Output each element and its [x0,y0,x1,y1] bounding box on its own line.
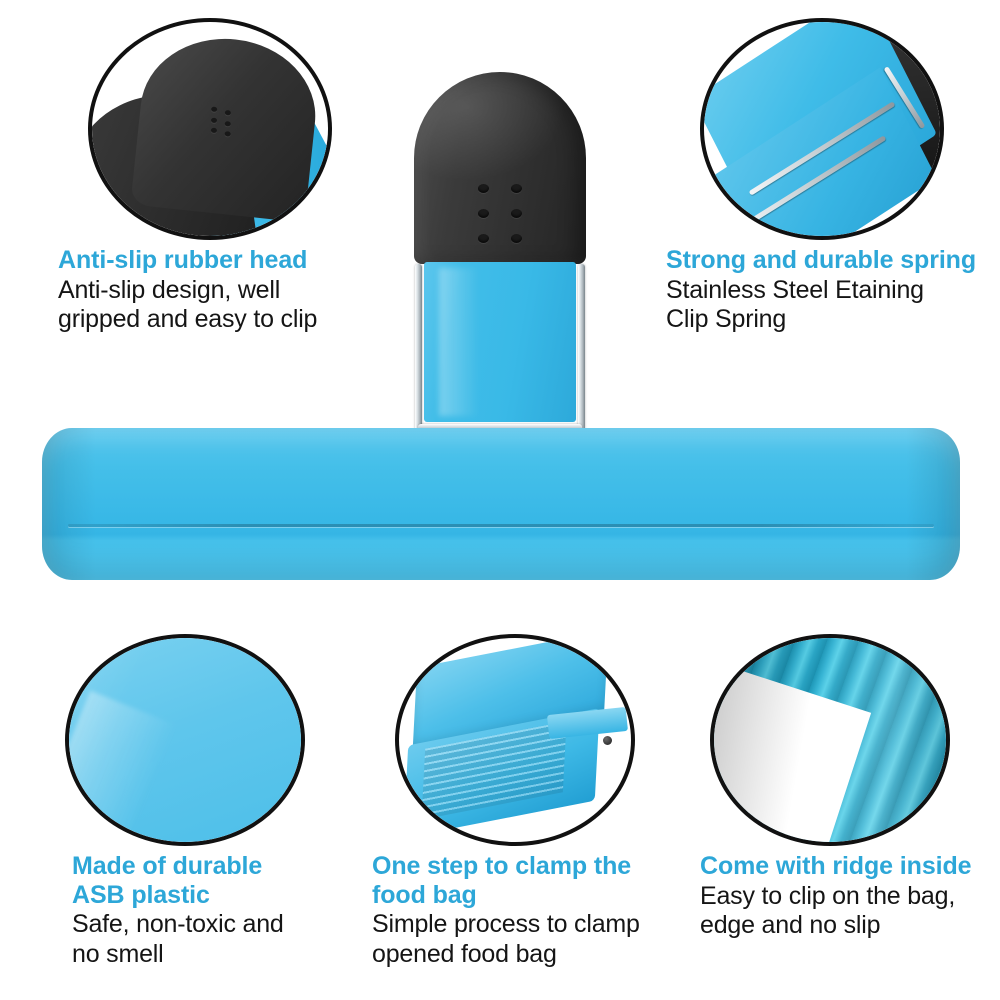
callout-plastic-image [69,638,301,842]
caption-spring: Strong and durable spring Stainless Stee… [666,246,996,335]
bar-right-shading [906,428,960,580]
feature-title-rubber-head: Anti-slip rubber head [58,246,388,275]
clamp-pivot-pin [603,736,612,745]
feature-desc-ridge: Easy to clip on the bag, edge and no sli… [700,882,1000,941]
feature-title-plastic: Made of durable ASB plastic [72,852,372,909]
feature-title-spring: Strong and durable spring [666,246,996,275]
spring-wire-right [578,264,585,432]
feature-desc-spring: Stainless Steel Etaining Clip Spring [666,276,996,335]
rubber-head-shape [414,72,586,264]
spring-wire-left [415,264,422,432]
bar-left-shading [42,428,96,580]
clip-body-gloss [439,268,479,415]
caption-ridge: Come with ridge inside Easy to clip on t… [700,852,1000,941]
callout-circle-clamp [395,634,635,846]
callout-spring-image [704,22,940,236]
callout-circle-rubber-head [88,18,332,240]
callout-clamp-image [399,638,631,842]
callout-rubber-head-image [92,22,328,236]
infographic-canvas: Anti-slip rubber head Anti-slip design, … [0,0,1000,1000]
callout-ridge-image [714,638,946,842]
clamping-bar-shape [42,428,960,580]
feature-desc-plastic: Safe, non-toxic and no smell [72,910,372,969]
caption-rubber-head: Anti-slip rubber head Anti-slip design, … [58,246,388,335]
feature-desc-rubber-head: Anti-slip design, well gripped and easy … [58,276,388,335]
feature-title-clamp: One step to clamp the food bag [372,852,682,909]
caption-clamp: One step to clamp the food bag Simple pr… [372,852,682,969]
clip-body-shape [424,262,576,422]
callout-circle-plastic [65,634,305,846]
ridge-shading [714,638,946,842]
rubber-head-dots-detail [209,106,242,135]
feature-desc-clamp: Simple process to clamp opened food bag [372,910,682,969]
feature-title-ridge: Come with ridge inside [700,852,1000,881]
callout-circle-ridge [710,634,950,846]
bar-groove-line [68,524,934,527]
caption-plastic: Made of durable ASB plastic Safe, non-to… [72,852,372,969]
callout-circle-spring [700,18,944,240]
rubber-head-dots [478,184,522,244]
